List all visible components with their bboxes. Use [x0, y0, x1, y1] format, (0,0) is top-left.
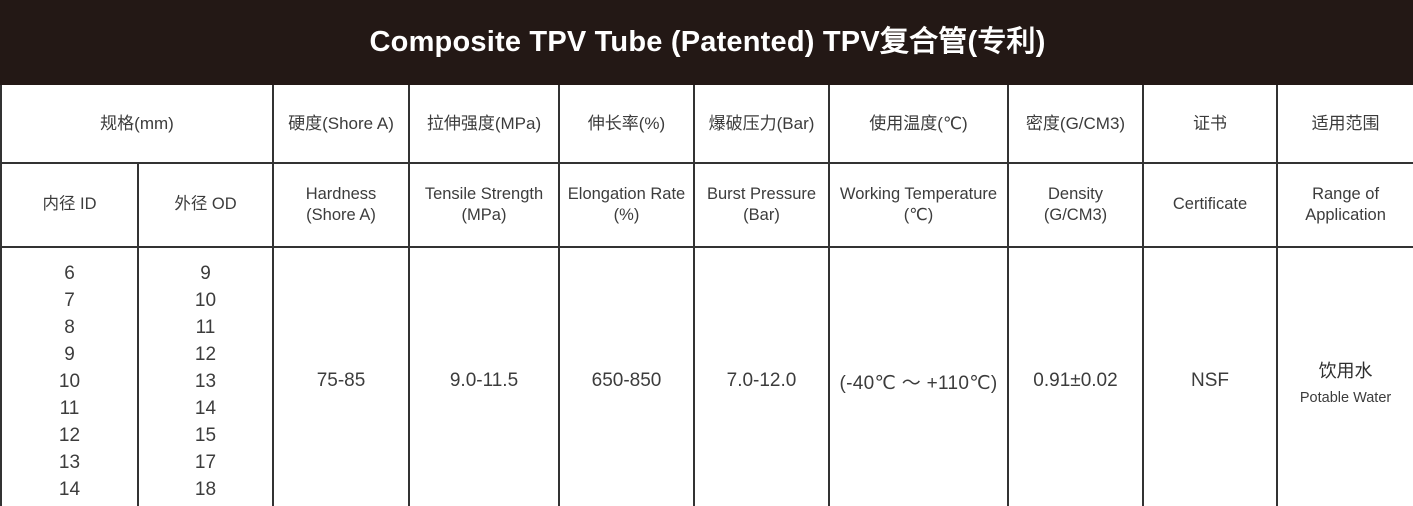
cell-elongation-rate-value: 650-850: [559, 247, 694, 506]
header-row-english: 内径 ID 外径 OD Hardness (Shore A) Tensile S…: [1, 163, 1413, 247]
density-value: 0.91±0.02: [1033, 370, 1117, 391]
header-certificate-cn: 证书: [1143, 84, 1277, 163]
value-item: 6: [64, 260, 75, 287]
header-density-en-line2: (G/CM3): [1011, 205, 1140, 226]
header-hardness-cn: 硬度(Shore A): [273, 84, 409, 163]
header-elongation-rate-en: Elongation Rate (%): [559, 163, 694, 247]
value-item: 14: [59, 476, 80, 503]
header-working-temperature-en-line2: (℃): [832, 205, 1005, 226]
value-item: 12: [59, 422, 80, 449]
tensile-strength-value: 9.0-11.5: [450, 370, 518, 391]
title-bar: Composite TPV Tube (Patented) TPV复合管(专利): [1, 1, 1413, 84]
header-outer-diameter: 外径 OD: [138, 163, 273, 247]
value-item: 11: [60, 395, 80, 422]
header-tensile-strength-cn: 拉伸强度(MPa): [409, 84, 559, 163]
header-range-of-application-en: Range of Application: [1277, 163, 1413, 247]
header-certificate-en-line1: Certificate: [1146, 194, 1274, 215]
header-tensile-strength-en: Tensile Strength (MPa): [409, 163, 559, 247]
header-burst-pressure-en: Burst Pressure (Bar): [694, 163, 829, 247]
header-certificate-en: Certificate: [1143, 163, 1277, 247]
value-item: 8: [64, 314, 75, 341]
header-density-cn: 密度(G/CM3): [1008, 84, 1143, 163]
cell-tensile-strength-value: 9.0-11.5: [409, 247, 559, 506]
value-item: 7: [64, 287, 75, 314]
value-item: 12: [195, 341, 216, 368]
burst-pressure-value: 7.0-12.0: [727, 370, 797, 391]
cell-hardness-value: 75-85: [273, 247, 409, 506]
value-item: 13: [195, 368, 216, 395]
header-inner-diameter: 内径 ID: [1, 163, 138, 247]
header-working-temperature-cn: 使用温度(℃): [829, 84, 1008, 163]
value-item: 10: [59, 368, 80, 395]
header-elongation-rate-en-line2: (%): [562, 205, 691, 226]
value-item: 10: [195, 287, 216, 314]
outer-diameter-list: 91011121314151718: [141, 260, 270, 503]
header-range-of-application-en-line1: Range of: [1280, 184, 1411, 205]
value-item: 14: [195, 395, 216, 422]
header-working-temperature-en-line1: Working Temperature: [832, 184, 1005, 205]
header-burst-pressure-en-line2: (Bar): [697, 205, 826, 226]
header-hardness-en: Hardness (Shore A): [273, 163, 409, 247]
value-item: 13: [59, 449, 80, 476]
value-item: 11: [196, 314, 216, 341]
data-row: 67891011121314 91011121314151718 75-85 9…: [1, 247, 1413, 506]
header-elongation-rate-en-line1: Elongation Rate: [562, 184, 691, 205]
spec-table: Composite TPV Tube (Patented) TPV复合管(专利)…: [0, 0, 1413, 506]
inner-diameter-list: 67891011121314: [4, 260, 135, 503]
cell-density-value: 0.91±0.02: [1008, 247, 1143, 506]
cell-burst-pressure-value: 7.0-12.0: [694, 247, 829, 506]
elongation-rate-value: 650-850: [592, 370, 662, 391]
cell-inner-diameter-values: 67891011121314: [1, 247, 138, 506]
header-working-temperature-en: Working Temperature (℃): [829, 163, 1008, 247]
value-item: 15: [195, 422, 216, 449]
header-inner-diameter-line1: 内径 ID: [4, 194, 135, 215]
header-density-en: Density (G/CM3): [1008, 163, 1143, 247]
cell-certificate-value: NSF: [1143, 247, 1277, 506]
cell-range-of-application-value: 饮用水 Potable Water: [1277, 247, 1413, 506]
header-range-of-application-en-line2: Application: [1280, 205, 1411, 226]
page-title: Composite TPV Tube (Patented) TPV复合管(专利): [370, 26, 1046, 58]
range-of-application-value-cn: 饮用水: [1280, 357, 1411, 383]
value-item: 17: [195, 449, 216, 476]
value-item: 9: [64, 341, 75, 368]
value-item: 9: [200, 260, 211, 287]
header-burst-pressure-en-line1: Burst Pressure: [697, 184, 826, 205]
header-spec-mm: 规格(mm): [1, 84, 273, 163]
cell-outer-diameter-values: 91011121314151718: [138, 247, 273, 506]
header-hardness-en-line1: Hardness: [276, 184, 406, 205]
header-tensile-strength-en-line1: Tensile Strength: [412, 184, 556, 205]
header-row-chinese: 规格(mm) 硬度(Shore A) 拉伸强度(MPa) 伸长率(%) 爆破压力…: [1, 84, 1413, 163]
header-tensile-strength-en-line2: (MPa): [412, 205, 556, 226]
header-hardness-en-line2: (Shore A): [276, 205, 406, 226]
certificate-value: NSF: [1191, 370, 1229, 391]
tpv-tube-spec-sheet: Composite TPV Tube (Patented) TPV复合管(专利)…: [0, 0, 1413, 506]
range-of-application-value-en: Potable Water: [1280, 390, 1411, 406]
cell-working-temperature-value: (-40℃ ～ +110℃): [829, 247, 1008, 506]
working-temperature-value: (-40℃ ～ +110℃): [840, 373, 998, 394]
header-range-of-application-cn: 适用范围: [1277, 84, 1413, 163]
title-row: Composite TPV Tube (Patented) TPV复合管(专利): [1, 1, 1413, 84]
header-density-en-line1: Density: [1011, 184, 1140, 205]
hardness-value: 75-85: [317, 370, 366, 391]
value-item: 18: [195, 476, 216, 503]
header-burst-pressure-cn: 爆破压力(Bar): [694, 84, 829, 163]
header-elongation-rate-cn: 伸长率(%): [559, 84, 694, 163]
header-outer-diameter-line1: 外径 OD: [141, 194, 270, 215]
